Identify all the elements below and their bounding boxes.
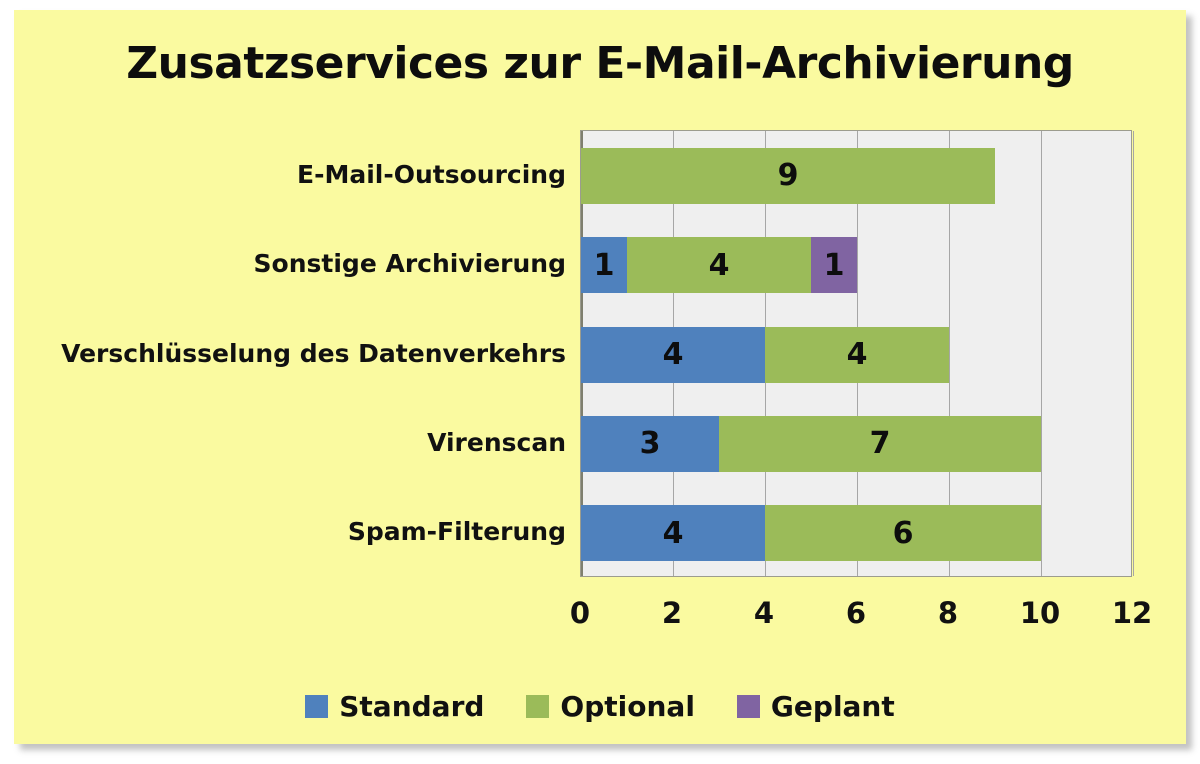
bar-segment-optional: 4 <box>765 327 949 383</box>
bar-segment-optional: 9 <box>581 148 995 204</box>
bar-value-label: 4 <box>663 337 684 372</box>
bar-segment-standard: 1 <box>581 237 627 293</box>
category-label: Verschlüsselung des Datenverkehrs <box>14 326 566 382</box>
bar-value-label: 4 <box>709 248 730 283</box>
legend-item[interactable]: Optional <box>526 690 695 723</box>
x-tick-label: 4 <box>729 596 799 630</box>
plot-area: 9141443746 <box>580 130 1132 577</box>
bar-value-label: 3 <box>640 426 661 461</box>
legend-label: Geplant <box>771 690 895 723</box>
x-tick-label: 2 <box>637 596 707 630</box>
x-tick-label: 8 <box>913 596 983 630</box>
bar-value-label: 6 <box>893 516 914 551</box>
bar-row: 37 <box>581 416 1131 472</box>
bar-segment-optional: 6 <box>765 505 1041 561</box>
bar-value-label: 4 <box>847 337 868 372</box>
bar-row: 46 <box>581 505 1131 561</box>
x-tick-label: 6 <box>821 596 891 630</box>
chart-legend: StandardOptionalGeplant <box>14 690 1186 723</box>
legend-label: Standard <box>339 690 484 723</box>
bar-row: 44 <box>581 327 1131 383</box>
legend-item[interactable]: Geplant <box>737 690 895 723</box>
bar-segment-standard: 4 <box>581 327 765 383</box>
legend-item[interactable]: Standard <box>305 690 484 723</box>
bar-segment-optional: 7 <box>719 416 1041 472</box>
bar-segment-geplant: 1 <box>811 237 857 293</box>
bar-segment-standard: 4 <box>581 505 765 561</box>
bar-value-label: 7 <box>870 426 891 461</box>
chart-card: Zusatzservices zur E-Mail-Archivierung E… <box>14 10 1186 744</box>
x-tick-label: 12 <box>1097 596 1167 630</box>
bar-value-label: 4 <box>663 516 684 551</box>
bar-segment-optional: 4 <box>627 237 811 293</box>
x-tick-label: 10 <box>1005 596 1075 630</box>
bar-value-label: 9 <box>778 158 799 193</box>
legend-swatch-icon <box>305 695 328 718</box>
legend-swatch-icon <box>526 695 549 718</box>
legend-label: Optional <box>560 690 695 723</box>
bar-row: 9 <box>581 148 1131 204</box>
legend-swatch-icon <box>737 695 760 718</box>
category-label: E-Mail-Outsourcing <box>14 147 566 203</box>
category-label: Spam-Filterung <box>14 504 566 560</box>
bar-row: 141 <box>581 237 1131 293</box>
bar-value-label: 1 <box>824 248 845 283</box>
bar-segment-standard: 3 <box>581 416 719 472</box>
chart-title: Zusatzservices zur E-Mail-Archivierung <box>14 38 1186 89</box>
category-label: Virenscan <box>14 415 566 471</box>
bar-value-label: 1 <box>594 248 615 283</box>
category-label: Sonstige Archivierung <box>14 236 566 292</box>
x-tick-label: 0 <box>545 596 615 630</box>
gridline-12 <box>1133 131 1134 576</box>
